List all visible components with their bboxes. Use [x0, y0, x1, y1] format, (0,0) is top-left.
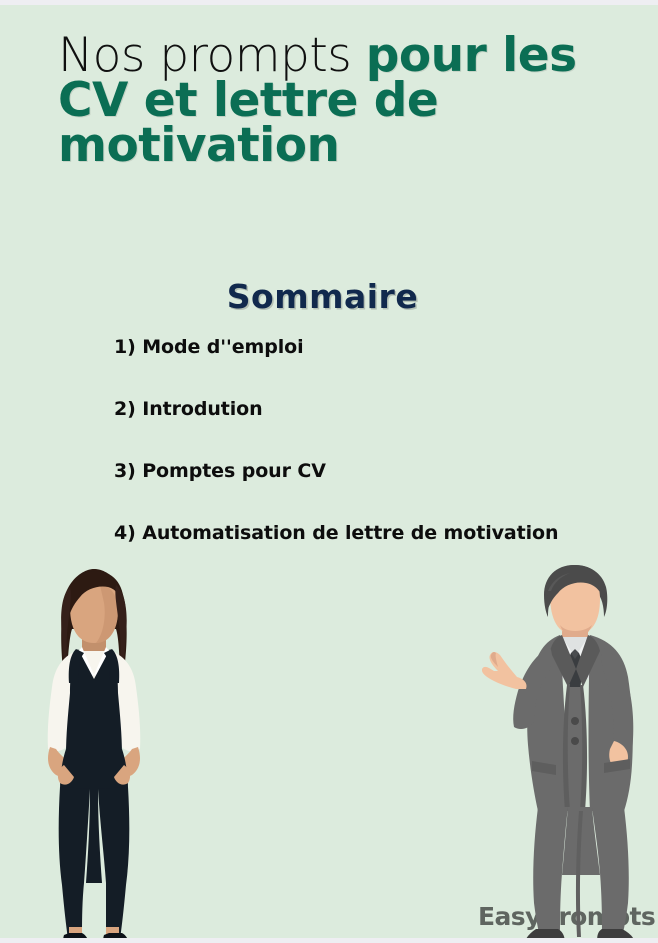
sommaire-heading: Sommaire: [0, 277, 645, 316]
list-item[interactable]: 3) Pomptes pour CV: [114, 459, 644, 521]
list-item[interactable]: 1) Mode d''emploi: [114, 335, 644, 397]
page-top-margin: [0, 0, 658, 5]
list-item[interactable]: 2) Introdution: [114, 397, 644, 459]
poster-page: Nos prompts pour les CV et lettre de mot…: [0, 0, 658, 943]
businessman-illustration: [482, 555, 658, 938]
page-title: Nos prompts pour les CV et lettre de mot…: [58, 33, 658, 168]
page-bottom-margin: [0, 938, 658, 943]
poster-sheet: Nos prompts pour les CV et lettre de mot…: [0, 5, 658, 938]
table-of-contents: 1) Mode d''emploi 2) Introdution 3) Pomp…: [114, 335, 644, 583]
businesswoman-illustration: [12, 563, 172, 938]
